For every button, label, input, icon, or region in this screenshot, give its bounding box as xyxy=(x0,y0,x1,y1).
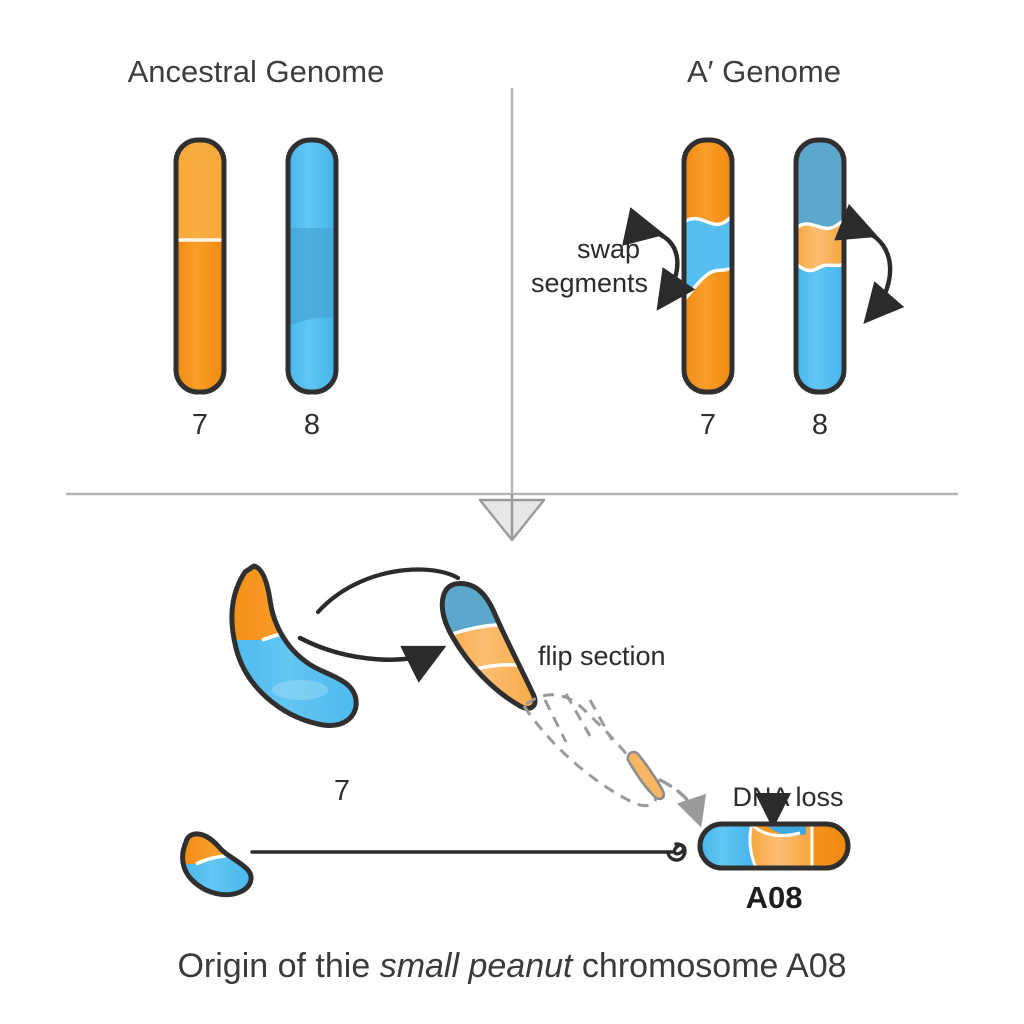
aprime-chromosome-7 xyxy=(684,140,732,392)
retained-segment xyxy=(628,752,664,799)
swap-segments-label-line2: segments xyxy=(531,268,648,298)
down-chevron-icon xyxy=(480,494,544,540)
small-source-chromosome xyxy=(178,828,260,904)
caption-part-2: chromosome A08 xyxy=(572,947,846,985)
aprime-chromosome-8 xyxy=(796,140,844,392)
flipped-chromosome xyxy=(430,575,550,720)
caption-part-1: Origin of thie xyxy=(177,947,379,985)
aprime-chromosome-7-label: 7 xyxy=(700,409,716,441)
figure-canvas: 7 8 7 xyxy=(0,0,1024,1024)
caption-part-italic: small peanut xyxy=(380,947,574,985)
swap-segments-label-line1: swap xyxy=(577,234,640,264)
ancestral-genome-title: Ancestral Genome xyxy=(128,54,385,89)
figure-caption: Origin of thie small peanut chromosome A… xyxy=(177,947,846,985)
long-horizontal-arrow-icon xyxy=(252,844,685,860)
result-chromosome-a08-label: A08 xyxy=(746,880,803,915)
dna-loss-label: DNA loss xyxy=(732,782,843,812)
ancestral-chromosome-7 xyxy=(176,140,224,392)
flip-section-label: flip section xyxy=(538,641,666,671)
flip-arc-arrow-icon xyxy=(318,569,458,612)
ghost-chromosome-outline xyxy=(524,694,656,806)
ancestral-chromosome-8 xyxy=(288,140,336,392)
swap-arrow-right-icon xyxy=(866,232,890,314)
ancestral-chromosome-7-label: 7 xyxy=(192,409,208,441)
diagram-svg: 7 8 7 xyxy=(0,0,1024,1024)
bottom-source-chromosome-label: 7 xyxy=(334,775,350,807)
swap-arrow-left-icon xyxy=(652,232,677,300)
result-chromosome-a08 xyxy=(700,824,848,868)
aprime-chromosome-8-label: 8 xyxy=(812,409,828,441)
flip-straight-arrow-icon xyxy=(300,638,434,660)
ancestral-chromosome-8-label: 8 xyxy=(304,409,320,441)
aprime-genome-title: A′ Genome xyxy=(687,54,841,89)
dna-loss-dashed-arrow-icon xyxy=(660,780,698,818)
